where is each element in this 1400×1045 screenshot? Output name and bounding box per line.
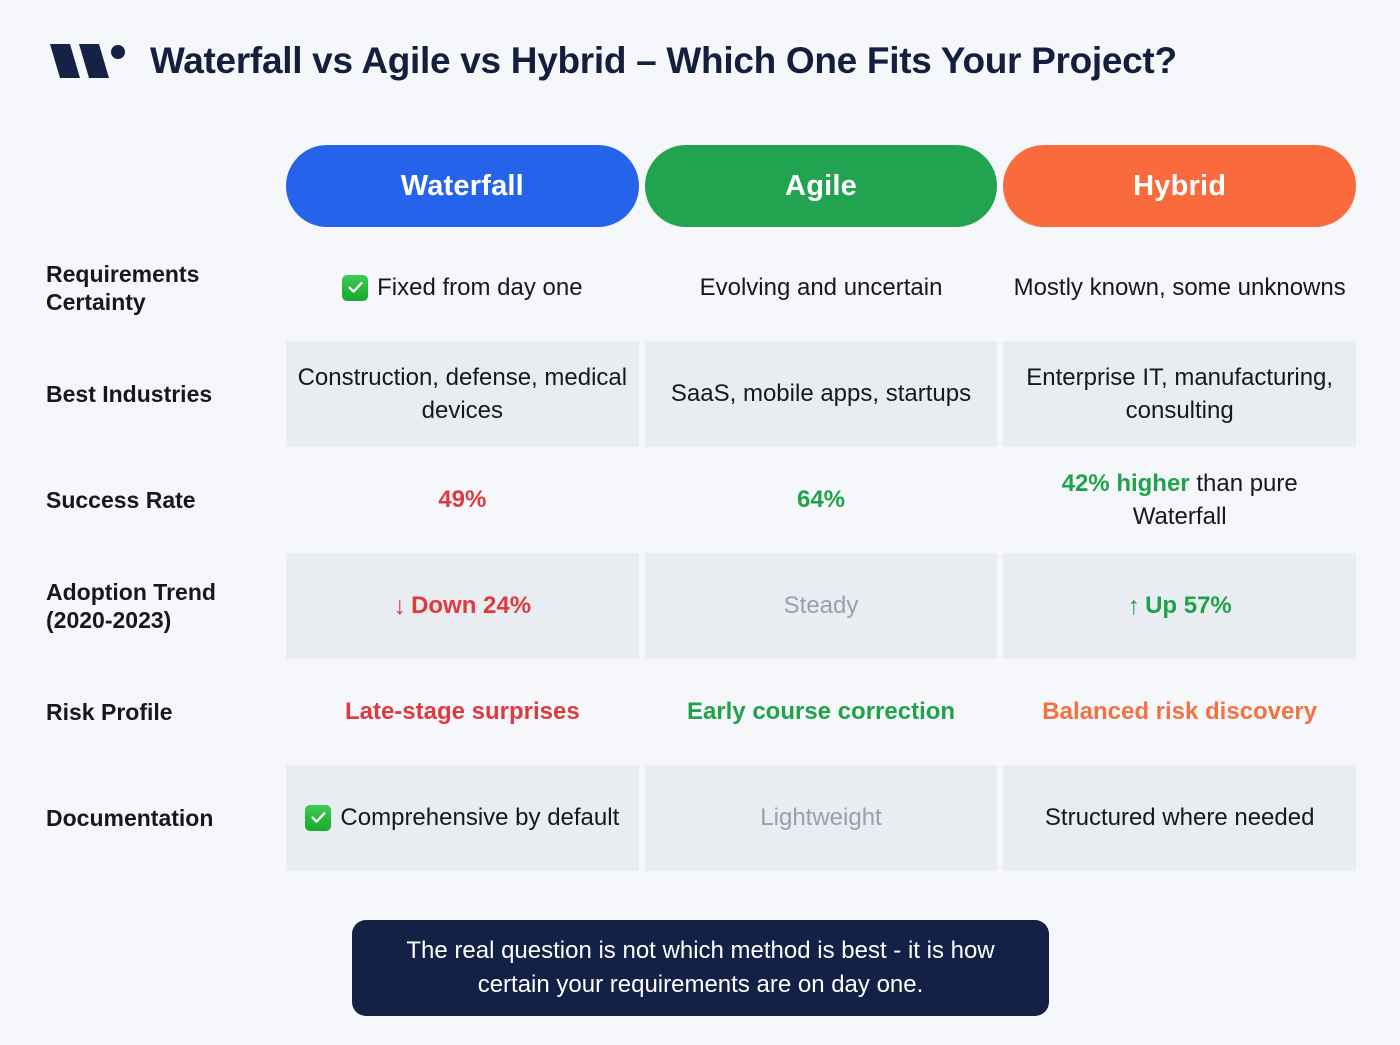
cell-text: Construction, defense, medical devices	[296, 361, 629, 427]
cell-text: Structured where needed	[1045, 801, 1315, 834]
cell-requirements-waterfall: Fixed from day one	[286, 235, 639, 341]
arrow-down-icon: ↓	[394, 589, 407, 624]
cell-text: Evolving and uncertain	[700, 271, 943, 304]
table-row: Success Rate 49% 64% 42% higher than pur…	[46, 447, 1356, 553]
arrow-up-icon: ↑	[1128, 589, 1141, 624]
column-header-label: Waterfall	[401, 170, 524, 203]
cell-documentation-hybrid: Structured where needed	[1003, 765, 1356, 871]
cell-risk-agile: Early course correction	[645, 659, 998, 765]
cell-text: Lightweight	[760, 801, 881, 834]
cell-text: Steady	[784, 589, 859, 622]
table-row: Risk Profile Late-stage surprises Early …	[46, 659, 1356, 765]
table-row: Requirements Certainty Fixed from day on…	[46, 235, 1356, 341]
cell-adoption-waterfall: ↓ Down 24%	[286, 553, 639, 659]
cell-text: Fixed from day one	[377, 271, 582, 304]
comparison-table: Waterfall Agile Hybrid Requirements Cert…	[46, 145, 1356, 871]
cell-industries-agile: SaaS, mobile apps, startups	[645, 341, 998, 447]
column-header-waterfall[interactable]: Waterfall	[286, 145, 639, 227]
cell-risk-hybrid: Balanced risk discovery	[1003, 659, 1356, 765]
cell-documentation-agile: Lightweight	[645, 765, 998, 871]
cell-text: Enterprise IT, manufacturing, consulting	[1013, 361, 1346, 427]
cell-requirements-agile: Evolving and uncertain	[645, 235, 998, 341]
cell-adoption-hybrid: ↑ Up 57%	[1003, 553, 1356, 659]
cell-success-waterfall: 49%	[286, 447, 639, 553]
callout-box: The real question is not which method is…	[352, 920, 1049, 1016]
cell-content: 42% higher than pure Waterfall	[1013, 467, 1346, 533]
row-label-adoption-trend: Adoption Trend (2020-2023)	[46, 553, 286, 659]
table-header-row: Waterfall Agile Hybrid	[46, 145, 1356, 227]
cell-text: Balanced risk discovery	[1042, 695, 1317, 728]
header-corner-spacer	[46, 145, 286, 227]
cell-content: Comprehensive by default	[305, 801, 619, 834]
table-row: Documentation Comprehensive by default L…	[46, 765, 1356, 871]
cell-text: Early course correction	[687, 695, 955, 728]
cell-content: Fixed from day one	[342, 271, 582, 304]
check-icon	[342, 275, 368, 301]
cell-content: ↑ Up 57%	[1128, 589, 1232, 624]
row-label-documentation: Documentation	[46, 765, 286, 871]
cell-text: 49%	[438, 483, 486, 516]
cell-content: ↓ Down 24%	[394, 589, 532, 624]
column-header-hybrid[interactable]: Hybrid	[1003, 145, 1356, 227]
cell-text: Comprehensive by default	[340, 801, 619, 834]
cell-text: SaaS, mobile apps, startups	[671, 377, 971, 410]
cell-text: Down 24%	[411, 589, 531, 622]
cell-documentation-waterfall: Comprehensive by default	[286, 765, 639, 871]
cell-adoption-agile: Steady	[645, 553, 998, 659]
cell-highlight: 42% higher	[1062, 470, 1190, 497]
infographic-canvas: Waterfall vs Agile vs Hybrid – Which One…	[0, 0, 1400, 1045]
cell-success-agile: 64%	[645, 447, 998, 553]
row-label-risk-profile: Risk Profile	[46, 659, 286, 765]
cell-text: Late-stage surprises	[345, 695, 580, 728]
column-header-label: Agile	[785, 170, 857, 203]
cell-risk-waterfall: Late-stage surprises	[286, 659, 639, 765]
table-row: Best Industries Construction, defense, m…	[46, 341, 1356, 447]
row-label-success-rate: Success Rate	[46, 447, 286, 553]
page-title: Waterfall vs Agile vs Hybrid – Which One…	[150, 41, 1177, 82]
header: Waterfall vs Agile vs Hybrid – Which One…	[0, 0, 1400, 84]
row-label-requirements-certainty: Requirements Certainty	[46, 235, 286, 341]
check-icon	[305, 805, 331, 831]
cell-requirements-hybrid: Mostly known, some unknowns	[1003, 235, 1356, 341]
cell-text: Up 57%	[1145, 589, 1232, 622]
cell-text: Mostly known, some unknowns	[1014, 271, 1346, 304]
table-row: Adoption Trend (2020-2023) ↓ Down 24% St…	[46, 553, 1356, 659]
row-label-best-industries: Best Industries	[46, 341, 286, 447]
column-header-label: Hybrid	[1133, 170, 1226, 203]
callout-text: The real question is not which method is…	[378, 934, 1023, 1002]
cell-success-hybrid: 42% higher than pure Waterfall	[1003, 447, 1356, 553]
column-header-agile[interactable]: Agile	[645, 145, 998, 227]
cell-text: 64%	[797, 483, 845, 516]
cell-industries-waterfall: Construction, defense, medical devices	[286, 341, 639, 447]
brand-mark-icon	[46, 38, 128, 84]
cell-industries-hybrid: Enterprise IT, manufacturing, consulting	[1003, 341, 1356, 447]
